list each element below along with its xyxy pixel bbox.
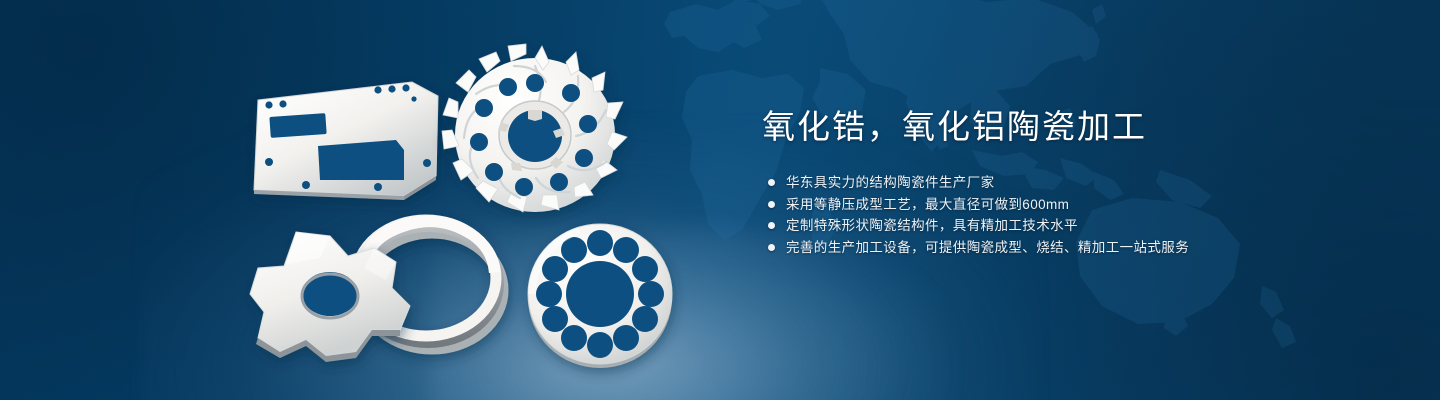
banner-copy: 氧化锆，氧化铝陶瓷加工 华东具实力的结构陶瓷件生产厂家 采用等静压成型工艺，最大… [762, 104, 1382, 258]
ceramic-products-photo [0, 0, 760, 400]
bullet-dot-icon [768, 244, 775, 251]
list-item-label: 华东具实力的结构陶瓷件生产厂家 [786, 172, 995, 194]
list-item: 采用等静压成型工艺，最大直径可做到600mm [768, 194, 1382, 216]
ceramic-flat-plate [254, 82, 438, 200]
bullet-dot-icon [768, 201, 775, 208]
ceramic-impeller-disc [442, 44, 627, 212]
list-item: 完善的生产加工设备，可提供陶瓷成型、烧结、精加工一站式服务 [768, 237, 1382, 259]
bullet-dot-icon [768, 179, 775, 186]
list-item: 华东具实力的结构陶瓷件生产厂家 [768, 172, 1382, 194]
list-item-label: 定制特殊形状陶瓷结构件，具有精加工技术水平 [786, 215, 1078, 237]
promo-banner: 氧化锆，氧化铝陶瓷加工 华东具实力的结构陶瓷件生产厂家 采用等静压成型工艺，最大… [0, 0, 1440, 400]
list-item-label: 完善的生产加工设备，可提供陶瓷成型、烧结、精加工一站式服务 [786, 237, 1189, 259]
ceramic-perforated-disc [528, 224, 672, 368]
bullet-dot-icon [768, 222, 775, 229]
page-title: 氧化锆，氧化铝陶瓷加工 [762, 104, 1382, 150]
feature-list: 华东具实力的结构陶瓷件生产厂家 采用等静压成型工艺，最大直径可做到600mm 定… [768, 172, 1382, 258]
list-item-label: 采用等静压成型工艺，最大直径可做到600mm [786, 194, 1069, 216]
list-item: 定制特殊形状陶瓷结构件，具有精加工技术水平 [768, 215, 1382, 237]
